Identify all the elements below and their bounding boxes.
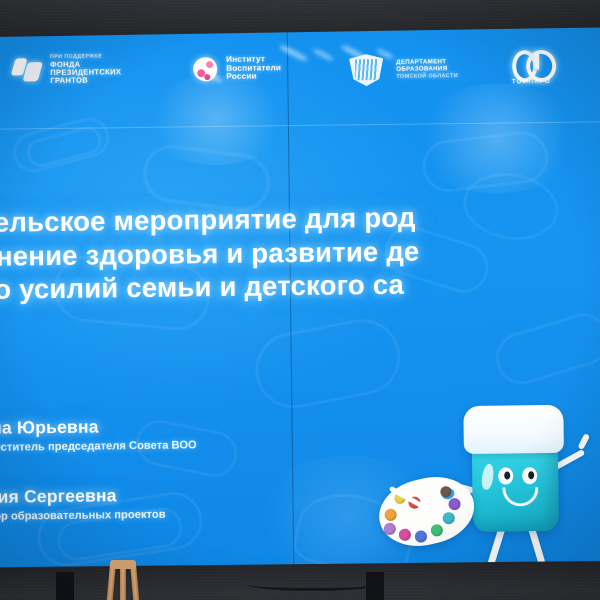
grants-fund-mark-icon	[13, 57, 43, 83]
institute-line-3: России	[226, 73, 281, 83]
department-line-3: ТОМСКОЙ ОБЛАСТИ	[396, 73, 458, 80]
mascot-pupil-left	[504, 471, 510, 479]
institute-educators-of-russia-logo: Институт Воспитатели России	[191, 54, 281, 83]
photo-of-presentation-screen: ПРИ ПОДДЕРЖКЕ ФОНДА ПРЕЗИДЕНТСКИХ ГРАНТО…	[0, 0, 600, 600]
display-cable	[248, 578, 378, 591]
speaker-role-line-2: ии»	[0, 452, 442, 473]
eighty-years-icon: лет	[511, 47, 551, 77]
fund-line-3: ГРАНТОВ	[50, 76, 121, 85]
tomsk-coat-of-arms-icon	[343, 53, 389, 88]
tomsk-department-of-education-logo: ДЕПАРТАМЕНТ ОБРАЗОВАНИЯ ТОМСКОЙ ОБЛАСТИ	[343, 52, 458, 87]
toipkro-80-years-logo: лет ТОИПКРО	[511, 47, 551, 86]
speaker-entry: чёва Юлия Сергеевна етингу, куратор обра…	[0, 481, 443, 541]
paint-palette	[378, 478, 475, 545]
wooden-easel	[104, 560, 148, 600]
mascot-hand-right	[577, 433, 590, 450]
mascot-lid	[463, 405, 564, 454]
paint-jar-mascot	[447, 400, 600, 571]
mascot-pupil-right	[528, 471, 534, 479]
presidential-grants-fund-logo: ПРИ ПОДДЕРЖКЕ ФОНДА ПРЕЗИДЕНТСКИХ ГРАНТО…	[13, 54, 121, 85]
video-wall-screen: ПРИ ПОДДЕРЖКЕ ФОНДА ПРЕЗИДЕНТСКИХ ГРАНТО…	[0, 22, 600, 571]
speakers-block: вей Елена Юрьевна ких наук, заместитель …	[0, 412, 443, 541]
institute-blob-icon	[191, 55, 219, 83]
display-stand-foot	[56, 572, 74, 600]
speaker-entry: вей Елена Юрьевна ких наук, заместитель …	[0, 412, 442, 472]
slide-headline: ительское мероприятие для род ранение зд…	[0, 198, 600, 307]
